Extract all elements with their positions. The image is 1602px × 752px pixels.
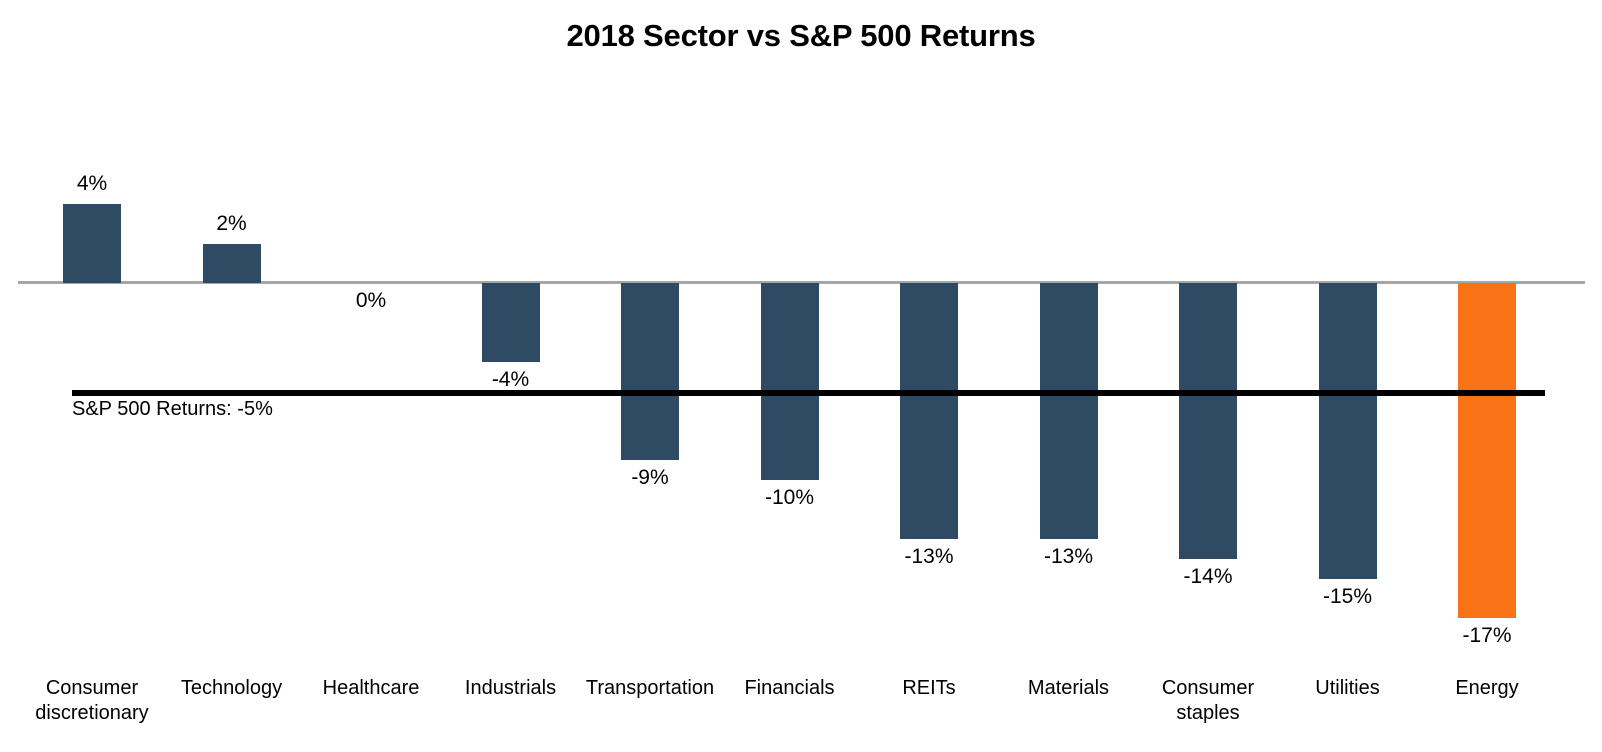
bar-value-label: 0% <box>301 289 441 313</box>
category-label: Consumer discretionary <box>17 676 167 726</box>
bar-value-label: -10% <box>720 486 860 510</box>
category-label: REITs <box>854 676 1004 701</box>
bar-rect[interactable] <box>621 283 679 460</box>
bar-value-label: -14% <box>1138 565 1278 589</box>
category-label: Consumer staples <box>1133 676 1283 726</box>
bar-value-label: 4% <box>22 172 162 196</box>
bar-rect[interactable] <box>900 283 958 539</box>
bar-rect[interactable] <box>1458 283 1516 618</box>
benchmark-reference-label: S&P 500 Returns: -5% <box>72 398 273 421</box>
bar-rect[interactable] <box>203 244 261 283</box>
bar-value-label: -17% <box>1417 624 1557 648</box>
category-label: Industrials <box>436 676 586 701</box>
bar-value-label: 2% <box>162 212 302 236</box>
bar-rect[interactable] <box>63 204 121 283</box>
bar-value-label: -13% <box>999 545 1139 569</box>
benchmark-reference-line <box>72 390 1545 396</box>
bar-value-label: -13% <box>859 545 999 569</box>
category-label: Transportation <box>575 676 725 701</box>
bar-rect[interactable] <box>761 283 819 480</box>
bar-value-label: -9% <box>580 466 720 490</box>
category-label: Materials <box>994 676 1144 701</box>
chart-container: 2018 Sector vs S&P 500 Returns 4%2%0%-4%… <box>0 0 1602 752</box>
category-label: Utilities <box>1273 676 1423 701</box>
bar-rect[interactable] <box>1040 283 1098 539</box>
bar-rect[interactable] <box>1319 283 1377 579</box>
category-label: Financials <box>715 676 865 701</box>
bar-rect[interactable] <box>1179 283 1237 559</box>
bar-value-label: -15% <box>1278 585 1418 609</box>
category-label: Healthcare <box>296 676 446 701</box>
category-label: Technology <box>157 676 307 701</box>
bar-rect[interactable] <box>482 283 540 362</box>
bar-value-label: -4% <box>441 368 581 392</box>
plot-area: 4%2%0%-4%-9%-10%-13%-13%-14%-15%-17% S&P… <box>0 0 1602 752</box>
category-label: Energy <box>1412 676 1562 701</box>
